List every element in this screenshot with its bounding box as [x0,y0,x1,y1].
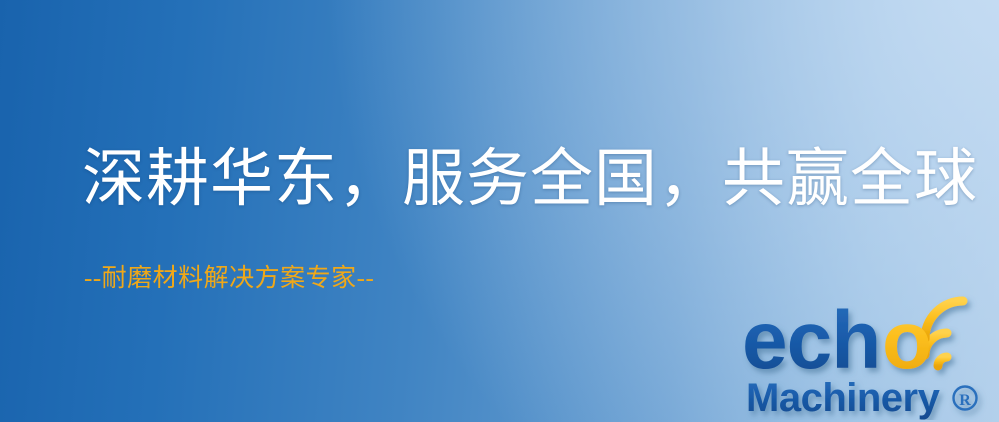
svg-text:R: R [959,392,971,409]
registered-mark-icon: R [954,387,977,410]
logo-tagline-wordmark: Machinery [746,376,941,420]
hero-banner: 深耕华东，服务全国，共赢全球 --耐磨材料解决方案专家-- [0,0,999,422]
logo-brand-text: ech [742,295,880,386]
banner-subtitle: --耐磨材料解决方案专家-- [84,266,374,291]
logo-brand-accent-letter: o [882,295,932,386]
echo-machinery-logo: ech o Machinery R [742,292,994,420]
banner-headline: 深耕华东，服务全国，共赢全球 [82,148,978,211]
